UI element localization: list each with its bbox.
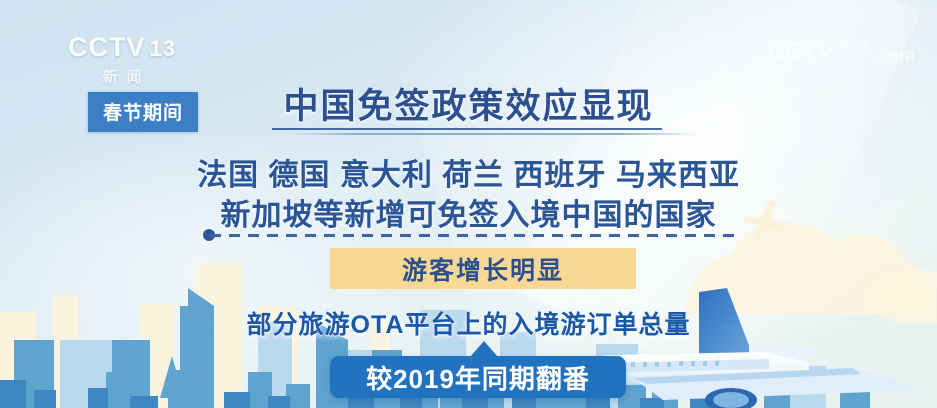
country-list-line-1: 法国 德国 意大利 荷兰 西班牙 马来西亚 <box>0 156 937 196</box>
watermark-com-label: .com <box>873 46 915 64</box>
callout-banner: 较2019年同期翻番 <box>330 356 626 398</box>
cctv-com-watermark: CCTV 央视网 .com <box>768 40 915 64</box>
country-list-line-2: 新加坡等新增可免签入境中国的国家 <box>0 196 937 236</box>
watermark-cctv-label: CCTV <box>768 40 835 64</box>
news-graphic-screen: CCTV13 新闻 CCTV 央视网 .com 春节期间 中国免签政策效应显现 … <box>0 0 937 408</box>
callout-pointer <box>470 341 498 357</box>
detail-statement: 部分旅游OTA平台上的入境游订单总量 <box>0 305 937 341</box>
headline-underline-secondary <box>286 133 696 135</box>
airliner-illustration <box>603 282 937 408</box>
headline-underline <box>272 128 662 130</box>
highlight-box: 游客增长明显 <box>330 248 636 289</box>
headline-container: 中国免签政策效应显现 <box>0 78 937 135</box>
dashed-divider <box>210 234 738 237</box>
page-title: 中国免签政策效应显现 <box>283 78 653 135</box>
country-list-block: 法国 德国 意大利 荷兰 西班牙 马来西亚 新加坡等新增可免签入境中国的国家 <box>0 156 937 235</box>
cctv-logo-label: CCTV <box>68 32 146 62</box>
highlight-label: 游客增长明显 <box>402 251 564 287</box>
watermark-cn-label: 央视网 <box>839 41 869 51</box>
cctv-logo-text: CCTV13 <box>52 34 192 61</box>
callout-label: 较2019年同期翻番 <box>366 359 590 396</box>
cctv-channel-number: 13 <box>150 38 176 60</box>
